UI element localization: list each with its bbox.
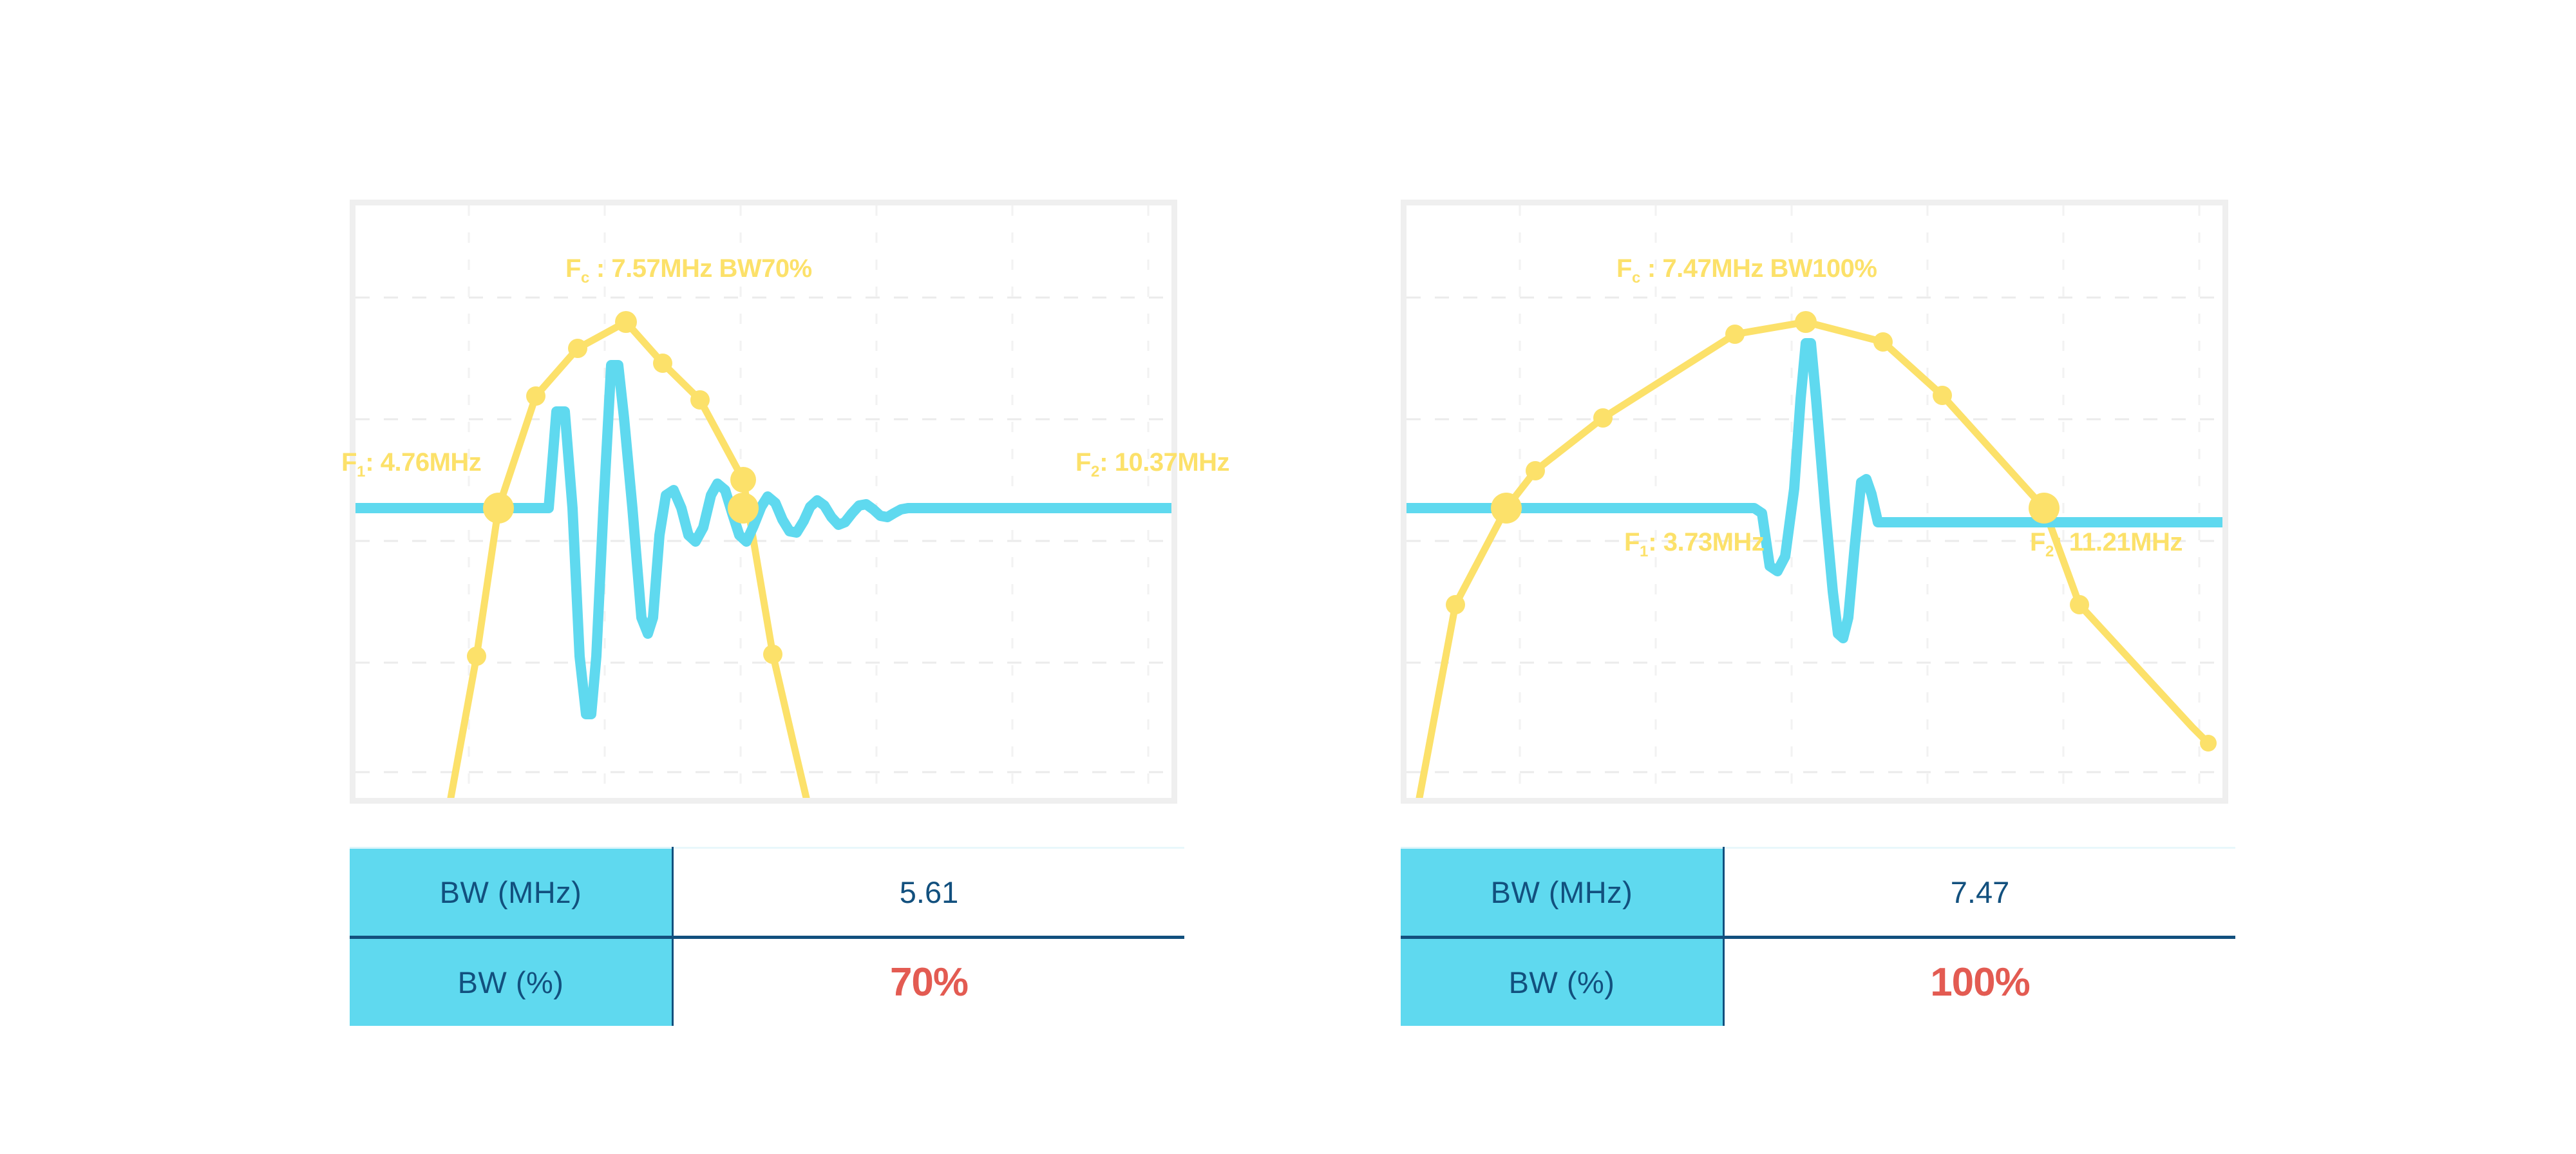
label-fc-text: : 7.47MHz BW100%: [1640, 254, 1877, 283]
label-fc-subscript: c: [1632, 269, 1640, 287]
pulse-echo-waveform: [1406, 343, 2222, 638]
label-fc-subscript: c: [581, 269, 589, 287]
chart-svg-bw100: [1406, 205, 2222, 798]
table-row: BW (%) 70%: [350, 938, 1184, 1026]
row-label-bw-mhz: BW (MHz): [350, 848, 673, 938]
row-label-bw-percent: BW (%): [350, 938, 673, 1026]
label-f1-subscript: 1: [357, 463, 365, 480]
row-value-bw-percent: 100%: [1724, 938, 2236, 1026]
label-center-frequency: Fc : 7.57MHz BW70%: [565, 254, 812, 287]
bandwidth-result-table: BW (MHz) 5.61 BW (%) 70%: [350, 847, 1184, 1026]
bandwidth-result-table: BW (MHz) 7.47 BW (%) 100%: [1401, 847, 2235, 1026]
label-f1-text: : 3.73MHz: [1648, 528, 1764, 556]
plot-area-bw100: [1406, 205, 2222, 798]
chart-svg-bw70: [355, 205, 1171, 798]
table-row: BW (MHz) 5.61: [350, 848, 1184, 938]
label-fc-text: : 7.57MHz BW70%: [589, 254, 811, 283]
chart-frame-bw70: [350, 200, 1177, 804]
f2-marker: [2029, 493, 2060, 524]
label-f2-subscript: 2: [1091, 463, 1099, 480]
row-value-bw-percent: 70%: [673, 938, 1185, 1026]
label-f1-prefix: F: [341, 448, 357, 477]
f2-marker: [728, 493, 759, 524]
table-row: BW (MHz) 7.47: [1401, 848, 2235, 938]
label-lower-frequency: F1: 4.76MHz: [341, 448, 481, 481]
label-upper-frequency: F2: 10.37MHz: [1075, 448, 1229, 481]
f1-marker: [1491, 493, 1522, 524]
plot-area-bw70: [355, 205, 1171, 798]
label-fc-prefix: F: [565, 254, 581, 283]
label-f1-prefix: F: [1624, 528, 1640, 556]
label-fc-prefix: F: [1616, 254, 1632, 283]
row-label-bw-percent: BW (%): [1401, 938, 1724, 1026]
label-upper-frequency: F2: 11.21MHz: [2030, 528, 2183, 561]
chart-frame-bw100: [1401, 200, 2228, 804]
label-center-frequency: Fc : 7.47MHz BW100%: [1616, 254, 1877, 287]
label-f1-text: : 4.76MHz: [365, 448, 481, 477]
gridlines: [355, 298, 1171, 772]
row-value-bw-mhz: 5.61: [673, 848, 1185, 938]
label-f2-prefix: F: [1075, 448, 1091, 477]
screenshot-stage: Fc : 7.57MHz BW70% F1: 4.76MHz F2: 10.37…: [0, 0, 2576, 1154]
table-row: BW (%) 100%: [1401, 938, 2235, 1026]
label-lower-frequency: F1: 3.73MHz: [1624, 528, 1764, 561]
spectrum-markers: [467, 311, 782, 666]
panel-bw100: Fc : 7.47MHz BW100% F1: 3.73MHz F2: 11.2…: [1386, 0, 2249, 1154]
label-f2-text: : 11.21MHz: [2054, 528, 2183, 556]
panel-bw70: Fc : 7.57MHz BW70% F1: 4.76MHz F2: 10.37…: [335, 0, 1198, 1154]
row-label-bw-mhz: BW (MHz): [1401, 848, 1724, 938]
label-f2-prefix: F: [2030, 528, 2045, 556]
label-f2-text: : 10.37MHz: [1099, 448, 1229, 477]
row-value-bw-mhz: 7.47: [1724, 848, 2236, 938]
spectrum-curve: [451, 322, 806, 798]
f1-marker: [483, 493, 514, 524]
label-f1-subscript: 1: [1640, 543, 1648, 560]
label-f2-subscript: 2: [2045, 543, 2054, 560]
